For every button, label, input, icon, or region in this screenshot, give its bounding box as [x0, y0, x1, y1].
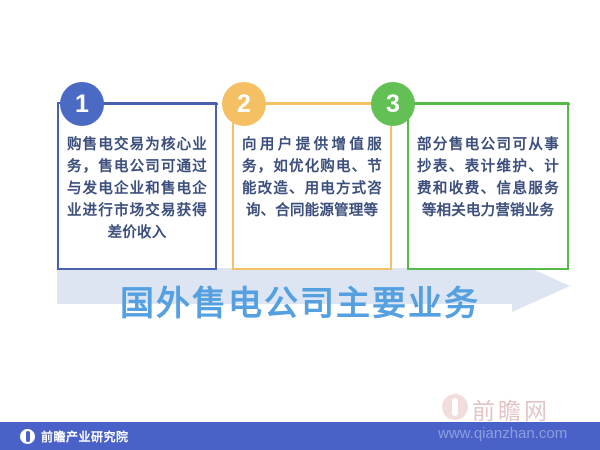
step-number-circle-3: 3 [371, 82, 415, 126]
connector-line-3 [411, 103, 570, 105]
business-card-2[interactable]: 向用户提供增值服务，如优化购电、节能改造、用电方式咨询、合同能源管理等 [232, 102, 392, 270]
business-card-2-text: 向用户提供增值服务，如优化购电、节能改造、用电方式咨询、合同能源管理等 [234, 134, 390, 222]
footer-brand-label: 前瞻产业研究院 [41, 428, 129, 445]
watermark-brand: 前瞻网 [472, 392, 550, 426]
qianzhan-logo-icon [20, 429, 35, 444]
business-card-3[interactable]: 部分售电公司可从事抄表、表计维护、计费和收费、信息服务等相关电力营销业务 [407, 102, 569, 270]
footer-brand: 前瞻产业研究院 [20, 422, 129, 450]
infographic-slide: 购售电交易为核心业务，售电公司可通过与发电企业和售电企业进行市场交易获得差价收入… [0, 0, 600, 450]
step-number-circle-1: 1 [60, 82, 104, 126]
business-card-1-text: 购售电交易为核心业务，售电公司可通过与发电企业和售电企业进行市场交易获得差价收入 [59, 134, 215, 244]
business-card-3-text: 部分售电公司可从事抄表、表计维护、计费和收费、信息服务等相关电力营销业务 [409, 134, 567, 222]
connector-line-1 [100, 103, 218, 105]
page-title: 国外售电公司主要业务 [0, 283, 600, 325]
watermark: 前瞻网 [442, 392, 592, 442]
step-number-circle-2: 2 [222, 82, 266, 126]
qianzhan-logo-icon [442, 394, 468, 420]
business-card-1[interactable]: 购售电交易为核心业务，售电公司可通过与发电企业和售电企业进行市场交易获得差价收入 [57, 102, 217, 270]
